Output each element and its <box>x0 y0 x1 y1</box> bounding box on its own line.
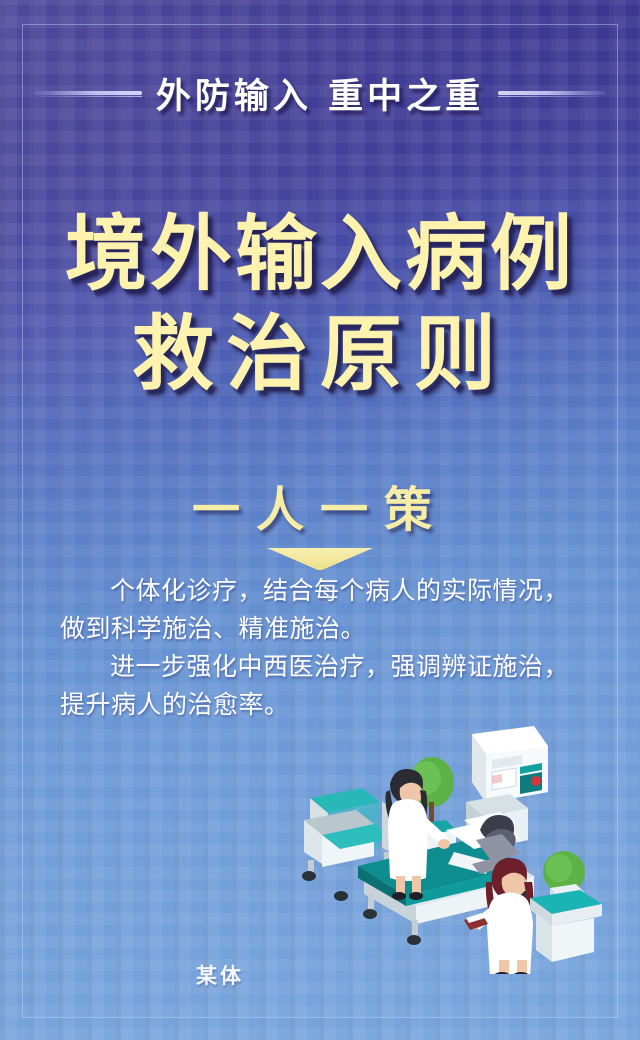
main-title-line-1: 境外输入病例 <box>0 205 640 305</box>
chevron-down-icon <box>267 548 373 570</box>
main-title-line-2: 救治原则 <box>0 305 640 405</box>
poster-root: 外防输入 重中之重 境外输入病例 救治原则 一人一策 个体化诊疗，结合每个病人的… <box>0 0 640 1040</box>
main-title: 境外输入病例 救治原则 <box>0 205 640 405</box>
header-title: 外防输入 重中之重 <box>156 68 484 119</box>
footer-text: 某体 <box>196 960 244 990</box>
header-rule-right-icon <box>498 89 606 98</box>
footer: 某体 <box>0 960 640 990</box>
body-copy: 个体化诊疗，结合每个病人的实际情况，做到科学施治、精准施治。 进一步强化中西医治… <box>60 572 580 724</box>
body-paragraph-2: 进一步强化中西医治疗，强调辨证施治，提升病人的治愈率。 <box>60 648 580 724</box>
header-rule-left-icon <box>34 89 142 98</box>
hospital-ward-illustration <box>296 724 612 974</box>
potted-plant-side-table-icon <box>530 851 602 962</box>
header-band: 外防输入 重中之重 <box>0 68 640 119</box>
subtitle-text: 一人一策 <box>192 470 448 540</box>
body-paragraph-1: 个体化诊疗，结合每个病人的实际情况，做到科学施治、精准施治。 <box>60 572 580 648</box>
wall-monitor-icon <box>472 726 548 803</box>
subtitle-block: 一人一策 <box>0 470 640 570</box>
